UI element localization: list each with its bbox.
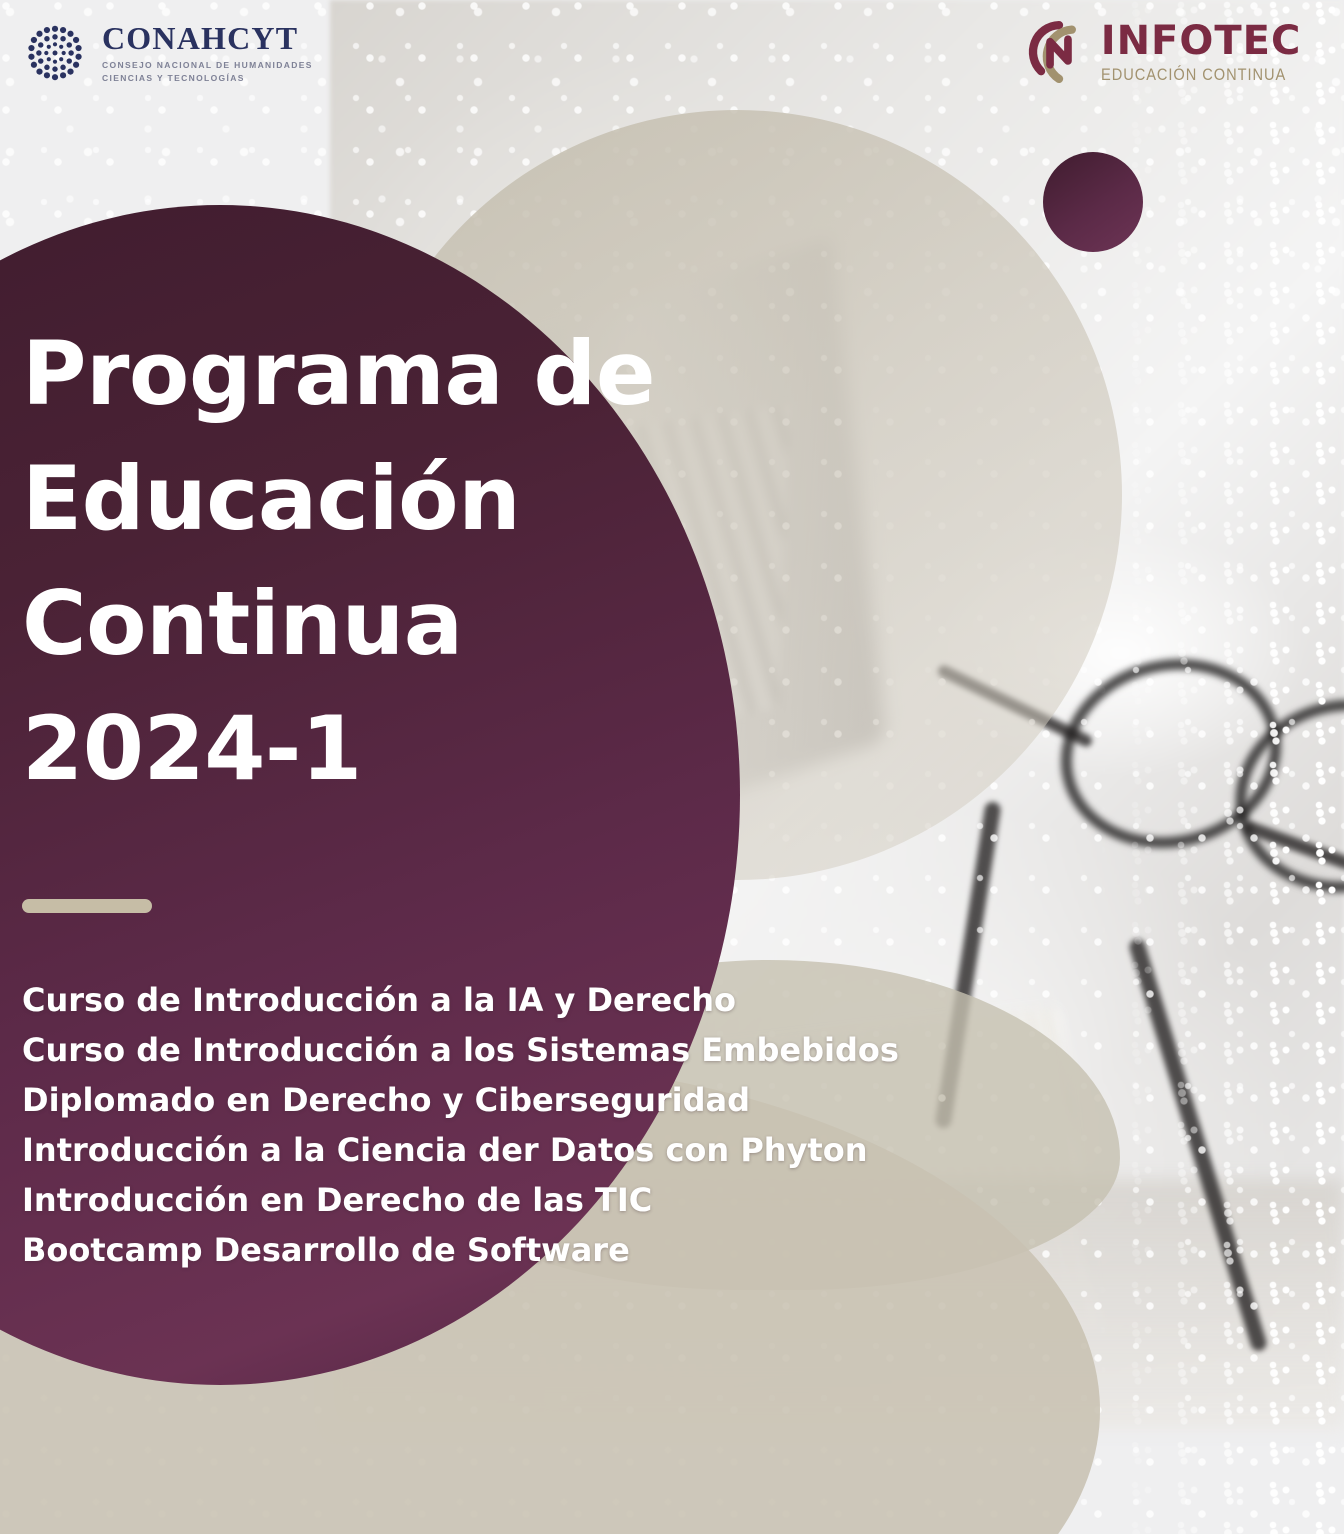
title-line-3: Continua xyxy=(22,562,722,687)
infotec-logo: INFOTEC EDUCACIÓN CONTINUA xyxy=(1027,20,1316,84)
list-item: Curso de Introducción a los Sistemas Emb… xyxy=(22,1025,1142,1075)
conahcyt-subtitle-line1: CONSEJO NACIONAL DE HUMANIDADES xyxy=(102,60,313,70)
title-line-1: Programa de xyxy=(22,312,722,437)
page-title: Programa de Educación Continua 2024-1 xyxy=(22,312,722,812)
decorative-maroon-dot xyxy=(1043,152,1143,252)
title-divider xyxy=(22,899,152,913)
list-item: Introducción a la Ciencia der Datos con … xyxy=(22,1125,1142,1175)
conahcyt-subtitle-line2: CIENCIAS Y TECNOLOGÍAS xyxy=(102,73,245,83)
conahcyt-logo: CONAHCYT CONSEJO NACIONAL DE HUMANIDADES… xyxy=(24,22,313,84)
list-item: Diplomado en Derecho y Ciberseguridad xyxy=(22,1075,1142,1125)
course-list: Curso de Introducción a la IA y Derecho … xyxy=(22,975,1142,1275)
infotec-name: INFOTEC xyxy=(1101,21,1316,61)
conahcyt-name: CONAHCYT xyxy=(102,22,313,54)
list-item: Curso de Introducción a la IA y Derecho xyxy=(22,975,1142,1025)
infotec-wordmark: INFOTEC EDUCACIÓN CONTINUA xyxy=(1101,21,1316,83)
list-item: Bootcamp Desarrollo de Software xyxy=(22,1225,1142,1275)
title-line-4: 2024-1 xyxy=(22,687,722,812)
conahcyt-wordmark: CONAHCYT CONSEJO NACIONAL DE HUMANIDADES… xyxy=(102,22,313,84)
infotec-subtitle: EDUCACIÓN CONTINUA xyxy=(1101,66,1286,83)
poster-canvas: CONAHCYT CONSEJO NACIONAL DE HUMANIDADES… xyxy=(0,0,1344,1534)
conahcyt-radial-dots-icon xyxy=(24,22,86,84)
conahcyt-subtitle: CONSEJO NACIONAL DE HUMANIDADES CIENCIAS… xyxy=(102,59,313,84)
list-item: Introducción en Derecho de las TIC xyxy=(22,1175,1142,1225)
infotec-circle-monogram-icon xyxy=(1027,20,1091,84)
title-line-2: Educación xyxy=(22,437,722,562)
